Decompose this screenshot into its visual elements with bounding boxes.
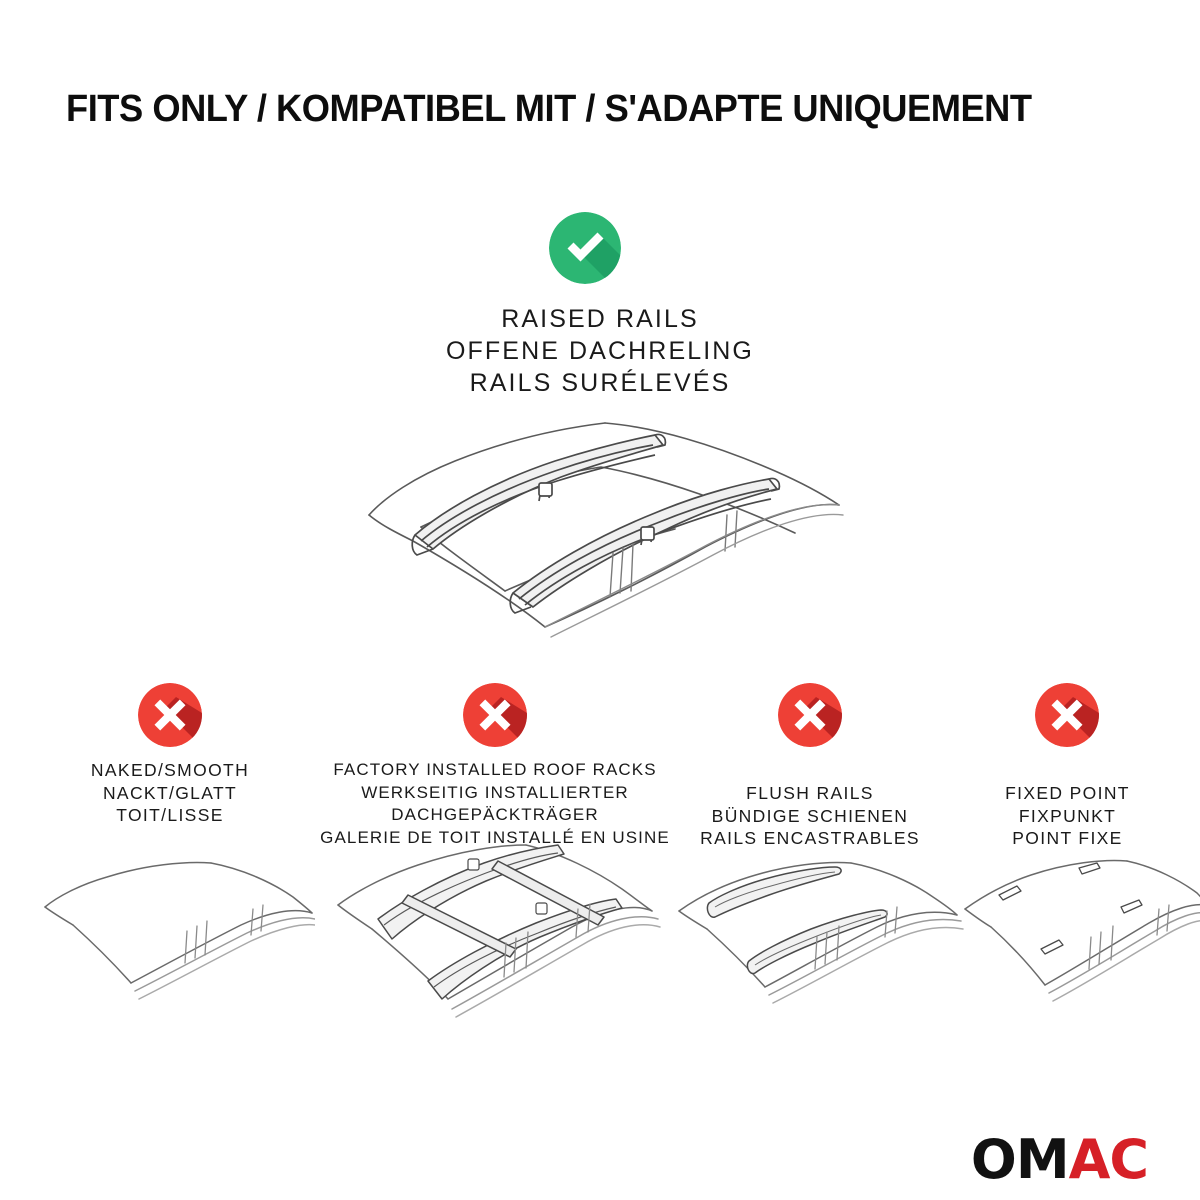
- approved-label-de: OFFENE DACHRELING: [0, 335, 1200, 367]
- x-circle-icon: [778, 683, 842, 747]
- check-circle-icon: [549, 212, 621, 284]
- page-title: FITS ONLY / KOMPATIBEL MIT / S'ADAPTE UN…: [66, 88, 1088, 131]
- caption-line: FLUSH RAILS: [670, 782, 950, 805]
- caption-line: BÜNDIGE SCHIENEN: [670, 805, 950, 828]
- caption-line: POINT FIXE: [955, 827, 1180, 850]
- approved-label-fr: RAILS SURÉLEVÉS: [0, 367, 1200, 399]
- caption-line: NAKED/SMOOTH: [35, 759, 305, 782]
- car-roof-raised-rails-illustration: [355, 405, 845, 660]
- x-circle-icon: [138, 683, 202, 747]
- car-roof-fixed-point-illustration: [955, 855, 1200, 1045]
- compatibility-infographic: FITS ONLY / KOMPATIBEL MIT / S'ADAPTE UN…: [0, 0, 1200, 1200]
- caption-line: TOIT/LISSE: [35, 804, 305, 827]
- car-roof-bare-illustration: [35, 855, 315, 1045]
- approved-labels: RAISED RAILS OFFENE DACHRELING RAILS SUR…: [0, 303, 1200, 399]
- caption-line: FIXPUNKT: [955, 805, 1180, 828]
- rejected-caption-fixed-point: FIXED POINT FIXPUNKT POINT FIXE: [955, 782, 1180, 850]
- rejected-caption-naked-smooth: NAKED/SMOOTH NACKT/GLATT TOIT/LISSE: [35, 759, 305, 827]
- caption-line: DACHGEPÄCKTRÄGER: [320, 804, 670, 827]
- caption-line: WERKSEITIG INSTALLIERTER: [320, 782, 670, 805]
- car-roof-crossbars-illustration: [320, 831, 680, 1041]
- logo-text-dark: OM: [971, 1128, 1069, 1191]
- x-circle-icon: [463, 683, 527, 747]
- rejected-caption-flush-rails: FLUSH RAILS BÜNDIGE SCHIENEN RAILS ENCAS…: [670, 782, 950, 850]
- caption-line: NACKT/GLATT: [35, 782, 305, 805]
- caption-line: FACTORY INSTALLED ROOF RACKS: [320, 759, 670, 782]
- caption-line: RAILS ENCASTRABLES: [670, 827, 950, 850]
- approved-label-en: RAISED RAILS: [0, 303, 1200, 335]
- car-roof-flush-rails-illustration: [665, 855, 965, 1045]
- caption-line: FIXED POINT: [955, 782, 1180, 805]
- omac-logo: OMAC: [971, 1133, 1148, 1187]
- logo-text-red: AC: [1069, 1128, 1148, 1191]
- x-circle-icon: [1035, 683, 1099, 747]
